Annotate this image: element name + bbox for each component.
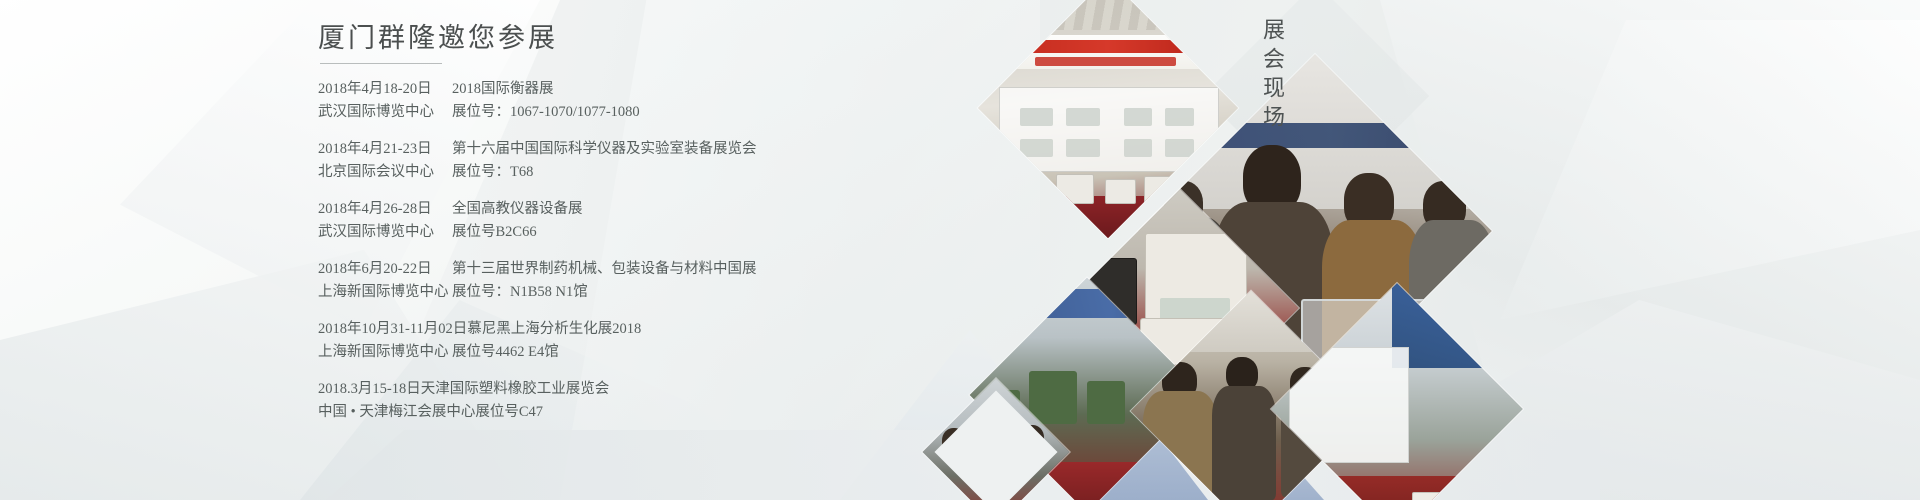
exhibition-entry: 2018年6月20-22日 第十三届世界制药机械、包装设备与材料中国展 上海新国… bbox=[318, 258, 1038, 303]
exhibition-row-date: 2018年4月26-28日 全国高教仪器设备展 bbox=[318, 198, 1038, 220]
exhibition-row-date: 2018年4月21-23日 第十六届中国国际科学仪器及实验室装备展览会 bbox=[318, 138, 1038, 160]
exhibition-row-venue: 中国 • 天津梅江会展中心 展位号C47 bbox=[318, 401, 1038, 423]
exhibition-row-venue: 上海新国际博览中心 展位号：N1B58 N1馆 bbox=[318, 281, 1038, 303]
exhibition-row-venue: 上海新国际博览中心 展位号4462 E4馆 bbox=[318, 341, 1038, 363]
exhibition-date: 2018年4月26-28日 bbox=[318, 198, 452, 220]
exhibition-row-date: 2018年10月31-11月02日 慕尼黑上海分析生化展2018 bbox=[318, 318, 1038, 340]
exhibition-booth: 展位号B2C66 bbox=[452, 221, 537, 243]
exhibition-entry: 2018年4月26-28日 全国高教仪器设备展 武汉国际博览中心 展位号B2C6… bbox=[318, 198, 1038, 243]
exhibition-row-venue: 北京国际会议中心 展位号：T68 bbox=[318, 161, 1038, 183]
exhibition-venue: 武汉国际博览中心 bbox=[318, 101, 452, 123]
background-facet-7 bbox=[1500, 20, 1920, 320]
exhibition-booth: 展位号：N1B58 N1馆 bbox=[452, 281, 588, 303]
exhibition-booth: 展位号4462 E4馆 bbox=[452, 341, 559, 363]
title-underline bbox=[320, 63, 442, 64]
exhibition-name: 慕尼黑上海分析生化展2018 bbox=[467, 318, 641, 340]
exhibition-name: 2018国际衡器展 bbox=[452, 78, 554, 100]
exhibition-date: 2018年4月18-20日 bbox=[318, 78, 452, 100]
exhibition-entry: 2018年4月21-23日 第十六届中国国际科学仪器及实验室装备展览会 北京国际… bbox=[318, 138, 1038, 183]
exhibition-venue: 中国 • 天津梅江会展中心 bbox=[318, 401, 475, 423]
exhibition-venue: 北京国际会议中心 bbox=[318, 161, 452, 183]
exhibition-list-panel: 厦门群隆邀您参展 2018年4月18-20日 2018国际衡器展 武汉国际博览中… bbox=[318, 22, 1038, 438]
exhibition-booth: 展位号C47 bbox=[475, 401, 543, 423]
page-title: 厦门群隆邀您参展 bbox=[318, 22, 1038, 54]
exhibition-venue: 上海新国际博览中心 bbox=[318, 341, 452, 363]
promo-banner: 厦门群隆邀您参展 2018年4月18-20日 2018国际衡器展 武汉国际博览中… bbox=[0, 0, 1920, 500]
exhibition-date: 2018年10月31-11月02日 bbox=[318, 318, 467, 340]
exhibition-row-date: 2018年4月18-20日 2018国际衡器展 bbox=[318, 78, 1038, 100]
exhibition-name: 第十三届世界制药机械、包装设备与材料中国展 bbox=[452, 258, 757, 280]
exhibition-row-venue: 武汉国际博览中心 展位号：1067-1070/1077-1080 bbox=[318, 101, 1038, 123]
exhibition-entry: 2018.3月15-18日天津国际塑料橡胶工业展览会 中国 • 天津梅江会展中心… bbox=[318, 378, 1038, 423]
exhibition-booth: 展位号：T68 bbox=[452, 161, 533, 183]
exhibition-entry: 2018年4月18-20日 2018国际衡器展 武汉国际博览中心 展位号：106… bbox=[318, 78, 1038, 123]
exhibition-venue: 上海新国际博览中心 bbox=[318, 281, 452, 303]
exhibition-name: 第十六届中国国际科学仪器及实验室装备展览会 bbox=[452, 138, 757, 160]
exhibition-row-date: 2018.3月15-18日天津国际塑料橡胶工业展览会 bbox=[318, 378, 1038, 400]
exhibition-venue: 武汉国际博览中心 bbox=[318, 221, 452, 243]
exhibition-date: 2018年6月20-22日 bbox=[318, 258, 452, 280]
exhibition-entry: 2018年10月31-11月02日 慕尼黑上海分析生化展2018 上海新国际博览… bbox=[318, 318, 1038, 363]
exhibition-name: 全国高教仪器设备展 bbox=[452, 198, 583, 220]
exhibition-date: 2018.3月15-18日天津国际塑料橡胶工业展览会 bbox=[318, 378, 609, 400]
exhibition-row-date: 2018年6月20-22日 第十三届世界制药机械、包装设备与材料中国展 bbox=[318, 258, 1038, 280]
exhibition-booth: 展位号：1067-1070/1077-1080 bbox=[452, 101, 640, 123]
collage-vertical-label: 展会现场 bbox=[1256, 18, 1288, 134]
exhibition-date: 2018年4月21-23日 bbox=[318, 138, 452, 160]
exhibition-row-venue: 武汉国际博览中心 展位号B2C66 bbox=[318, 221, 1038, 243]
